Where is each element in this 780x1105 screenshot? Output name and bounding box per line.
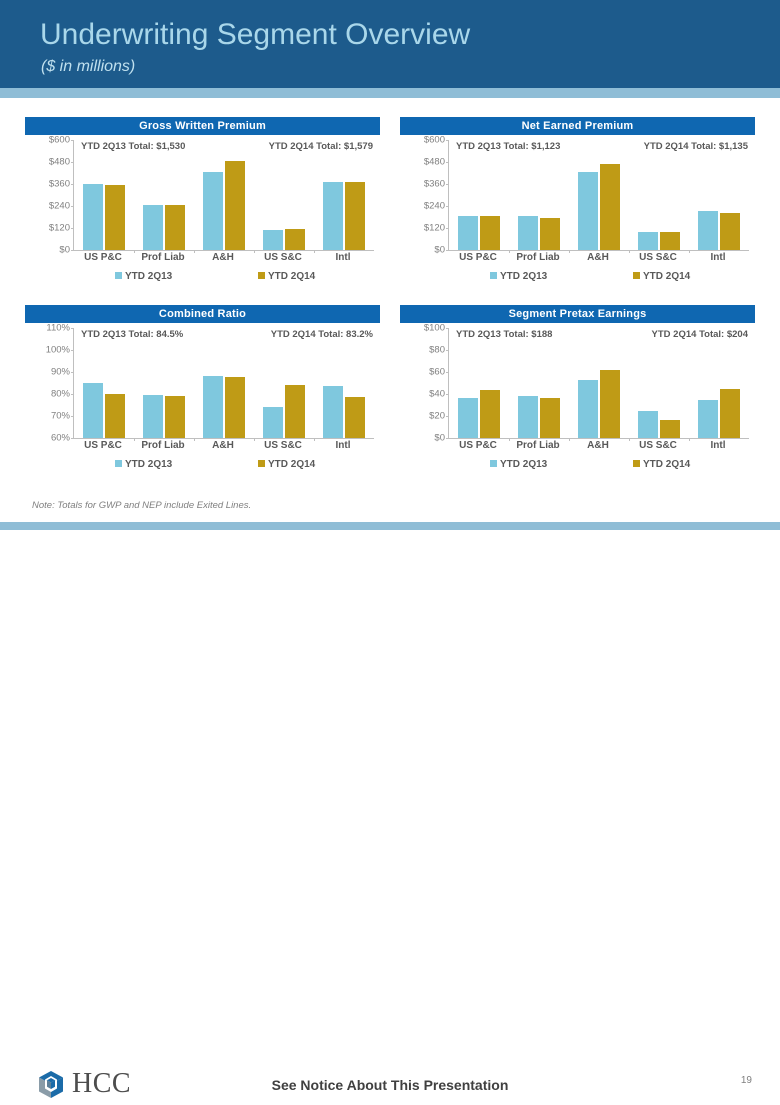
x-axis-category-label: US S&C bbox=[639, 440, 677, 451]
bar-2q14 bbox=[660, 420, 680, 438]
plot-area: $0$20$40$60$80$100 bbox=[448, 328, 749, 439]
header-accent-strip bbox=[0, 88, 780, 98]
y-axis-tick-label: 90% bbox=[24, 367, 70, 378]
legend-item-2q14: YTD 2Q14 bbox=[258, 459, 315, 470]
plot-area: $0$120$240$360$480$600 bbox=[448, 140, 749, 251]
legend-label-2q14: YTD 2Q14 bbox=[643, 459, 690, 470]
bar-2q14 bbox=[720, 389, 740, 439]
chart-body: YTD 2Q13 Total: 84.5% YTD 2Q14 Total: 83… bbox=[25, 323, 380, 491]
chart-panel-combined-ratio: Combined Ratio YTD 2Q13 Total: 84.5% YTD… bbox=[25, 305, 380, 495]
y-axis-tick-label: $240 bbox=[399, 201, 445, 212]
bar-2q13 bbox=[638, 411, 658, 439]
x-axis-category-label: Intl bbox=[711, 440, 726, 451]
bar-2q13 bbox=[203, 172, 223, 250]
y-axis-tick-label: $60 bbox=[399, 367, 445, 378]
y-axis-tick-label: $120 bbox=[24, 223, 70, 234]
bar-2q13 bbox=[203, 376, 223, 438]
plot-area: 60%70%80%90%100%110% bbox=[73, 328, 374, 439]
y-axis-tick-label: $0 bbox=[24, 245, 70, 256]
y-axis-tick-label: $0 bbox=[399, 433, 445, 444]
chart-title: Net Earned Premium bbox=[400, 117, 755, 135]
legend-swatch-2q14 bbox=[633, 460, 640, 467]
page-title: Underwriting Segment Overview bbox=[40, 18, 470, 52]
bar-2q13 bbox=[263, 407, 283, 438]
y-axis-tick-mark bbox=[71, 394, 74, 395]
bar-2q13 bbox=[578, 172, 598, 250]
y-axis-tick-label: $480 bbox=[399, 157, 445, 168]
x-axis-category-label: US P&C bbox=[84, 440, 122, 451]
legend-swatch-2q14 bbox=[258, 272, 265, 279]
y-axis-tick-mark bbox=[446, 206, 449, 207]
legend-item-2q13: YTD 2Q13 bbox=[490, 271, 547, 282]
bar-2q13 bbox=[263, 230, 283, 250]
y-axis-tick-mark bbox=[446, 372, 449, 373]
x-axis-labels: US P&CProf LiabA&HUS S&CIntl bbox=[73, 252, 373, 266]
chart-legend: YTD 2Q13 YTD 2Q14 bbox=[448, 271, 748, 285]
x-axis-category-label: A&H bbox=[212, 252, 234, 263]
chart-title: Gross Written Premium bbox=[25, 117, 380, 135]
legend-label-2q13: YTD 2Q13 bbox=[500, 459, 547, 470]
legend-label-2q13: YTD 2Q13 bbox=[125, 271, 172, 282]
chart-legend: YTD 2Q13 YTD 2Q14 bbox=[448, 459, 748, 473]
x-axis-category-label: A&H bbox=[587, 440, 609, 451]
footnote: Note: Totals for GWP and NEP include Exi… bbox=[32, 500, 251, 511]
y-axis-tick-mark bbox=[446, 438, 449, 439]
y-axis-tick-mark bbox=[71, 372, 74, 373]
legend-label-2q13: YTD 2Q13 bbox=[500, 271, 547, 282]
x-axis-category-label: Intl bbox=[711, 252, 726, 263]
y-axis-tick-label: $360 bbox=[399, 179, 445, 190]
y-axis-tick-mark bbox=[446, 250, 449, 251]
y-axis-tick-mark bbox=[71, 438, 74, 439]
bar-2q14 bbox=[345, 182, 365, 250]
chart-title: Combined Ratio bbox=[25, 305, 380, 323]
y-axis-tick-label: 80% bbox=[24, 389, 70, 400]
legend-swatch-2q13 bbox=[490, 272, 497, 279]
y-axis-tick-label: 110% bbox=[24, 323, 70, 334]
bar-2q14 bbox=[600, 164, 620, 250]
y-axis-tick-mark bbox=[446, 350, 449, 351]
legend-label-2q14: YTD 2Q14 bbox=[643, 271, 690, 282]
bar-2q13 bbox=[638, 232, 658, 250]
legend-swatch-2q14 bbox=[258, 460, 265, 467]
bar-2q14 bbox=[720, 213, 740, 250]
bar-2q14 bbox=[105, 394, 125, 438]
legend-item-2q13: YTD 2Q13 bbox=[115, 459, 172, 470]
bar-2q14 bbox=[285, 229, 305, 250]
y-axis-tick-label: $480 bbox=[24, 157, 70, 168]
x-axis-labels: US P&CProf LiabA&HUS S&CIntl bbox=[448, 440, 748, 454]
x-axis-category-label: Prof Liab bbox=[141, 252, 184, 263]
x-axis-category-label: US S&C bbox=[639, 252, 677, 263]
bar-2q14 bbox=[165, 396, 185, 438]
chart-legend: YTD 2Q13 YTD 2Q14 bbox=[73, 271, 373, 285]
legend-item-2q14: YTD 2Q14 bbox=[633, 459, 690, 470]
bar-2q14 bbox=[285, 385, 305, 438]
x-axis-category-label: A&H bbox=[212, 440, 234, 451]
y-axis-tick-mark bbox=[71, 206, 74, 207]
y-axis-tick-mark bbox=[446, 416, 449, 417]
y-axis-tick-mark bbox=[71, 250, 74, 251]
bar-2q13 bbox=[458, 216, 478, 250]
chart-panel-segment-pretax-earnings: Segment Pretax Earnings YTD 2Q13 Total: … bbox=[400, 305, 755, 495]
legend-item-2q13: YTD 2Q13 bbox=[490, 459, 547, 470]
bar-2q14 bbox=[165, 205, 185, 250]
y-axis-tick-label: 60% bbox=[24, 433, 70, 444]
y-axis-tick-mark bbox=[71, 140, 74, 141]
bar-2q14 bbox=[660, 232, 680, 250]
charts-area: Gross Written Premium YTD 2Q13 Total: $1… bbox=[0, 105, 780, 495]
y-axis-tick-mark bbox=[71, 162, 74, 163]
chart-body: YTD 2Q13 Total: $188 YTD 2Q14 Total: $20… bbox=[400, 323, 755, 491]
footer-accent-strip bbox=[0, 522, 780, 530]
y-axis-tick-mark bbox=[446, 140, 449, 141]
chart-panel-net-earned-premium: Net Earned Premium YTD 2Q13 Total: $1,12… bbox=[400, 117, 755, 307]
bar-2q14 bbox=[600, 370, 620, 438]
y-axis-tick-mark bbox=[71, 328, 74, 329]
x-axis-category-label: US S&C bbox=[264, 440, 302, 451]
y-axis-tick-label: $600 bbox=[399, 135, 445, 146]
legend-label-2q14: YTD 2Q14 bbox=[268, 459, 315, 470]
chart-legend: YTD 2Q13 YTD 2Q14 bbox=[73, 459, 373, 473]
y-axis-tick-mark bbox=[446, 394, 449, 395]
y-axis-tick-mark bbox=[71, 416, 74, 417]
x-axis-category-label: Intl bbox=[336, 440, 351, 451]
y-axis-tick-mark bbox=[446, 184, 449, 185]
chart-body: YTD 2Q13 Total: $1,530 YTD 2Q14 Total: $… bbox=[25, 135, 380, 303]
legend-swatch-2q14 bbox=[633, 272, 640, 279]
bar-2q13 bbox=[698, 211, 718, 250]
bar-2q13 bbox=[83, 184, 103, 250]
x-axis-category-label: Intl bbox=[336, 252, 351, 263]
y-axis-tick-mark bbox=[446, 162, 449, 163]
legend-swatch-2q13 bbox=[115, 460, 122, 467]
page-number: 19 bbox=[741, 1075, 752, 1086]
bar-2q13 bbox=[518, 216, 538, 250]
slide-footer: HCC See Notice About This Presentation 1… bbox=[0, 530, 780, 585]
bar-2q14 bbox=[540, 218, 560, 250]
chart-body: YTD 2Q13 Total: $1,123 YTD 2Q14 Total: $… bbox=[400, 135, 755, 303]
x-axis-labels: US P&CProf LiabA&HUS S&CIntl bbox=[448, 252, 748, 266]
chart-panel-gross-written-premium: Gross Written Premium YTD 2Q13 Total: $1… bbox=[25, 117, 380, 307]
x-axis-category-label: A&H bbox=[587, 252, 609, 263]
y-axis-tick-mark bbox=[71, 350, 74, 351]
bar-2q13 bbox=[143, 395, 163, 438]
y-axis-tick-label: $0 bbox=[399, 245, 445, 256]
bar-2q14 bbox=[345, 397, 365, 438]
y-axis-tick-label: $80 bbox=[399, 345, 445, 356]
x-axis-category-label: US P&C bbox=[459, 440, 497, 451]
legend-item-2q13: YTD 2Q13 bbox=[115, 271, 172, 282]
y-axis-tick-mark bbox=[446, 228, 449, 229]
y-axis-tick-mark bbox=[446, 328, 449, 329]
y-axis-tick-label: 100% bbox=[24, 345, 70, 356]
x-axis-category-label: Prof Liab bbox=[516, 440, 559, 451]
bar-2q13 bbox=[323, 386, 343, 438]
legend-label-2q14: YTD 2Q14 bbox=[268, 271, 315, 282]
bar-2q14 bbox=[225, 161, 245, 250]
bar-2q13 bbox=[518, 396, 538, 438]
bar-2q13 bbox=[698, 400, 718, 439]
y-axis-tick-label: $600 bbox=[24, 135, 70, 146]
y-axis-tick-label: 70% bbox=[24, 411, 70, 422]
x-axis-category-label: US P&C bbox=[84, 252, 122, 263]
bar-2q14 bbox=[225, 377, 245, 438]
plot-area: $0$120$240$360$480$600 bbox=[73, 140, 374, 251]
bar-2q14 bbox=[540, 398, 560, 438]
footer-notice-text: See Notice About This Presentation bbox=[0, 1077, 780, 1093]
x-axis-category-label: US P&C bbox=[459, 252, 497, 263]
legend-label-2q13: YTD 2Q13 bbox=[125, 459, 172, 470]
legend-swatch-2q13 bbox=[115, 272, 122, 279]
bar-2q13 bbox=[83, 383, 103, 438]
slide-header: Underwriting Segment Overview ($ in mill… bbox=[0, 0, 780, 88]
y-axis-tick-label: $360 bbox=[24, 179, 70, 190]
bar-2q13 bbox=[458, 398, 478, 438]
x-axis-category-label: Prof Liab bbox=[516, 252, 559, 263]
x-axis-labels: US P&CProf LiabA&HUS S&CIntl bbox=[73, 440, 373, 454]
y-axis-tick-label: $20 bbox=[399, 411, 445, 422]
bar-2q14 bbox=[105, 185, 125, 250]
bar-2q14 bbox=[480, 216, 500, 250]
bar-2q13 bbox=[323, 182, 343, 250]
y-axis-tick-label: $40 bbox=[399, 389, 445, 400]
legend-swatch-2q13 bbox=[490, 460, 497, 467]
bar-2q14 bbox=[480, 390, 500, 438]
x-axis-category-label: Prof Liab bbox=[141, 440, 184, 451]
page-subtitle: ($ in millions) bbox=[41, 58, 135, 76]
y-axis-tick-mark bbox=[71, 184, 74, 185]
chart-title: Segment Pretax Earnings bbox=[400, 305, 755, 323]
y-axis-tick-label: $240 bbox=[24, 201, 70, 212]
y-axis-tick-label: $120 bbox=[399, 223, 445, 234]
x-axis-category-label: US S&C bbox=[264, 252, 302, 263]
y-axis-tick-mark bbox=[71, 228, 74, 229]
legend-item-2q14: YTD 2Q14 bbox=[633, 271, 690, 282]
legend-item-2q14: YTD 2Q14 bbox=[258, 271, 315, 282]
bar-2q13 bbox=[578, 380, 598, 438]
bar-2q13 bbox=[143, 205, 163, 250]
y-axis-tick-label: $100 bbox=[399, 323, 445, 334]
